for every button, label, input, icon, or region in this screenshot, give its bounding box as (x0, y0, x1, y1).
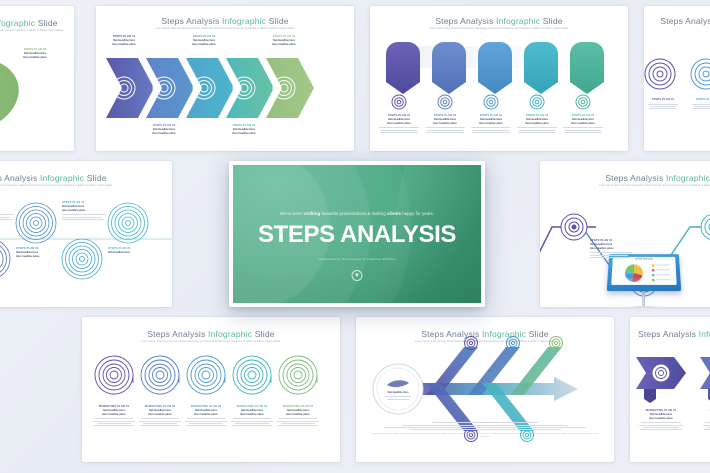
pie-chart-icon (611, 261, 676, 285)
step-sub2: Here headline place (560, 122, 606, 126)
hero-tagline: We've been crafting beautiful presentati… (233, 211, 481, 216)
slide-mid-right[interactable]: Steps Analysis Infographic Slide Lorem i… (540, 161, 710, 307)
step-sub2: Here headline place (590, 247, 636, 251)
teardrop-steps-graphic (0, 6, 74, 151)
hero-tagline-bold1: crafting (304, 211, 320, 216)
badge-label: Sub Headline Here (378, 391, 418, 395)
step-sub2: Here headline place (6, 56, 64, 60)
step-sub2: Here headline place (229, 413, 275, 417)
slide-gallery-canvas: Steps Analysis Infographic Slide Lorem i… (0, 0, 710, 473)
spiral-rings-graphic (82, 317, 340, 462)
step-sub2: Here headline place (137, 413, 183, 417)
step-sub2: Here headline place (176, 43, 232, 47)
step-sub2: Here headline place (275, 413, 321, 417)
hero-title: STEPS ANALYSIS (233, 223, 481, 247)
fishbone-arrow-graphic (356, 317, 614, 462)
step-sub2: Here headline place (0, 209, 18, 213)
step-sub1: Sub Headline Here (108, 251, 156, 255)
slide-top-left-partial[interactable]: Steps Analysis Infographic Slide Lorem i… (0, 6, 74, 151)
slide-footer-text: Lorem ipsum dolor sit amet consectetur a… (370, 433, 600, 439)
step-sub2: Here headline place (514, 122, 560, 126)
timeline-rings-graphic (0, 161, 172, 307)
slide-top-right[interactable]: Steps Analysis Infographic Slide Lorem i… (370, 6, 628, 151)
step-sub2: Here headline place (376, 122, 422, 126)
kiosk-base (626, 306, 662, 307)
step-sub2: Here headline place (701, 417, 710, 421)
step-sub2: Here headline place (468, 122, 514, 126)
ribbon-banner-graphic (630, 317, 710, 462)
hero-tagline-prefix: We've been (280, 211, 304, 216)
hero-tagline-bold2: clients (387, 211, 401, 216)
tablet-kiosk: STATISTICS (608, 253, 680, 307)
step-sub2: Here headline place (422, 122, 468, 126)
step-sub2: Here headline place (136, 132, 192, 136)
slide-top-far-right-partial[interactable]: Steps Analysis Infographic Slide STEPS P… (644, 6, 710, 151)
play-circle-icon[interactable]: ▼ (352, 270, 363, 281)
step-label: STEPS PLAN 02 (688, 98, 710, 102)
step-sub2: Here headline place (16, 255, 64, 259)
hero-note: Collaborative Permission & Creative Abil… (233, 257, 481, 261)
ring-steps-graphic (644, 6, 710, 151)
hero-tagline-mid: beautiful presentations & making (320, 211, 387, 216)
step-sub2: Here headline place (91, 413, 137, 417)
step-label: STEPS PLAN 01 (644, 98, 682, 102)
slide-bottom-right-partial[interactable]: Steps Analysis Infographic Slide (630, 317, 710, 462)
tablet-screen: STATISTICS (611, 257, 676, 285)
tablet-frame: STATISTICS (607, 254, 681, 291)
pie-legend (652, 264, 671, 281)
step-sub2: Here headline place (62, 209, 110, 213)
hero-slide-screen: We've been crafting beautiful presentati… (233, 165, 481, 303)
slide-bottom-center[interactable]: Steps Analysis Infographic Slide Lorem i… (356, 317, 614, 462)
slide-top-center[interactable]: Steps Analysis Infographic Slide Lorem i… (96, 6, 354, 151)
hero-tagline-suffix: happy for years. (401, 211, 434, 216)
slide-mid-left[interactable]: Steps Analysis Infographic Slide Lorem i… (0, 161, 172, 307)
step-sub2: Here headline place (96, 43, 152, 47)
step-sub2: Here headline place (637, 417, 685, 421)
slide-bottom-left[interactable]: Steps Analysis Infographic Slide Lorem i… (82, 317, 340, 462)
step-sub2: Here headline place (216, 132, 272, 136)
hero-title-slide[interactable]: We've been crafting beautiful presentati… (229, 161, 485, 307)
step-sub2: Here headline place (256, 43, 312, 47)
step-sub2: Here headline place (183, 413, 229, 417)
